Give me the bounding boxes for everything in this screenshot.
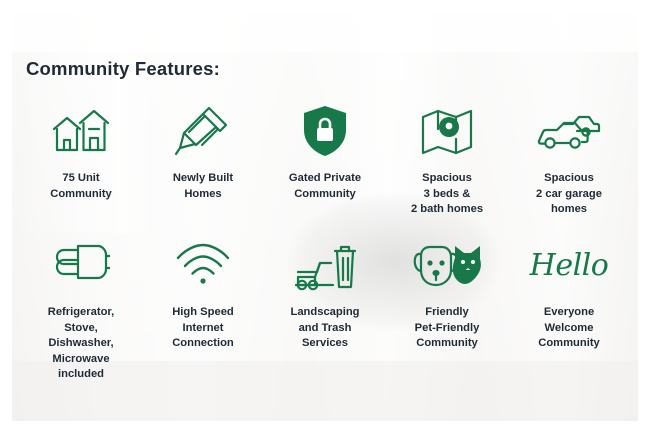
feature-label: Gated Private Community: [289, 171, 361, 202]
feature-item-75-unit-community: 75 Unit Community: [20, 100, 142, 218]
feature-label: Landscaping and Trash Services: [291, 305, 360, 352]
hello-script-text: Hello: [530, 248, 609, 283]
feature-label: Spacious 3 beds & 2 bath homes: [411, 171, 483, 218]
feature-item-gated-private-community: Gated Private Community: [264, 100, 386, 218]
feature-label: Everyone Welcome Community: [538, 305, 600, 352]
feature-item-appliances-included: Refrigerator, Stove, Dishwasher, Microwa…: [20, 234, 142, 383]
feature-label: Spacious 2 car garage homes: [536, 171, 602, 218]
map-pin-icon: [418, 100, 476, 162]
content-layer: Community Features:: [12, 12, 638, 421]
feature-card: Community Features:: [12, 12, 638, 421]
feature-item-high-speed-internet: High Speed Internet Connection: [142, 234, 264, 383]
feature-item-spacious-beds-baths: Spacious 3 beds & 2 bath homes: [386, 100, 508, 218]
feature-item-newly-built-homes: Newly Built Homes: [142, 100, 264, 218]
feature-label: 75 Unit Community: [50, 171, 112, 202]
feature-label: Friendly Pet-Friendly Community: [415, 305, 480, 352]
slide-page: Community Features:: [0, 0, 650, 433]
feature-label: Newly Built Homes: [173, 171, 233, 202]
cars-icon: [537, 100, 601, 162]
hello-script-icon: Hello: [530, 234, 609, 296]
paint-roller-icon: [174, 100, 232, 162]
feature-item-two-car-garage: Spacious 2 car garage homes: [508, 100, 630, 218]
feature-item-pet-friendly: Friendly Pet-Friendly Community: [386, 234, 508, 383]
feature-label: High Speed Internet Connection: [172, 305, 234, 352]
page-title: Community Features:: [26, 58, 220, 80]
power-plug-icon: [52, 234, 110, 296]
feature-row-top: 75 Unit Community Newly Built Hom: [20, 100, 630, 218]
feature-item-everyone-welcome: Hello Everyone Welcome Community: [508, 234, 630, 383]
lawn-mower-trash-icon: [293, 234, 357, 296]
feature-item-landscaping-trash: Landscaping and Trash Services: [264, 234, 386, 383]
wifi-icon: [174, 234, 232, 296]
feature-row-bottom: Refrigerator, Stove, Dishwasher, Microwa…: [20, 234, 630, 383]
houses-icon: [50, 100, 112, 162]
shield-lock-icon: [300, 100, 350, 162]
feature-label: Refrigerator, Stove, Dishwasher, Microwa…: [48, 305, 115, 383]
dog-cat-icon: [411, 234, 483, 296]
